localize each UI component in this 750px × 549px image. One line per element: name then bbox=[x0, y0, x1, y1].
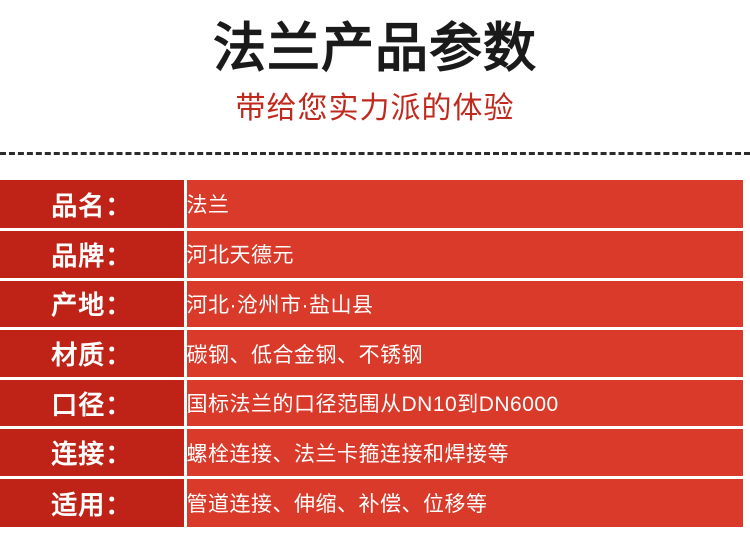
spec-value-cell: 管道连接、伸缩、补偿、位移等 bbox=[185, 478, 743, 528]
table-row: 产地： 河北·沧州市·盐山县 bbox=[0, 279, 743, 329]
spec-label-cell: 品名： bbox=[0, 180, 185, 230]
specification-table-body: 品名： 法兰 品牌： 河北天德元 产地： 河北·沧州市·盐山县 材质： 碳钢、低… bbox=[0, 180, 743, 527]
specification-table: 品名： 法兰 品牌： 河北天德元 产地： 河北·沧州市·盐山县 材质： 碳钢、低… bbox=[0, 180, 743, 527]
product-spec-page: 法兰产品参数 带给您实力派的体验 品名： 法兰 品牌： 河北天德元 产地： 河北… bbox=[0, 0, 750, 549]
spec-value-cell: 螺栓连接、法兰卡箍连接和焊接等 bbox=[185, 428, 743, 478]
table-row: 品牌： 河北天德元 bbox=[0, 230, 743, 280]
table-row: 口径： 国标法兰的口径范围从DN10到DN6000 bbox=[0, 378, 743, 428]
table-row: 适用： 管道连接、伸缩、补偿、位移等 bbox=[0, 478, 743, 528]
dashed-divider bbox=[0, 152, 750, 155]
spec-value-cell: 河北·沧州市·盐山县 bbox=[185, 279, 743, 329]
spec-value-cell: 碳钢、低合金钢、不锈钢 bbox=[185, 329, 743, 379]
spec-label-cell: 材质： bbox=[0, 329, 185, 379]
spec-value-cell: 河北天德元 bbox=[185, 230, 743, 280]
table-row: 材质： 碳钢、低合金钢、不锈钢 bbox=[0, 329, 743, 379]
spec-label-cell: 产地： bbox=[0, 279, 185, 329]
spec-value-cell: 法兰 bbox=[185, 180, 743, 230]
table-row: 品名： 法兰 bbox=[0, 180, 743, 230]
spec-label-cell: 适用： bbox=[0, 478, 185, 528]
spec-label-cell: 连接： bbox=[0, 428, 185, 478]
spec-label-cell: 口径： bbox=[0, 378, 185, 428]
table-row: 连接： 螺栓连接、法兰卡箍连接和焊接等 bbox=[0, 428, 743, 478]
page-title: 法兰产品参数 bbox=[0, 18, 750, 80]
spec-value-cell: 国标法兰的口径范围从DN10到DN6000 bbox=[185, 378, 743, 428]
page-header: 法兰产品参数 带给您实力派的体验 bbox=[0, 0, 750, 145]
spec-label-cell: 品牌： bbox=[0, 230, 185, 280]
page-subtitle: 带给您实力派的体验 bbox=[0, 90, 750, 128]
